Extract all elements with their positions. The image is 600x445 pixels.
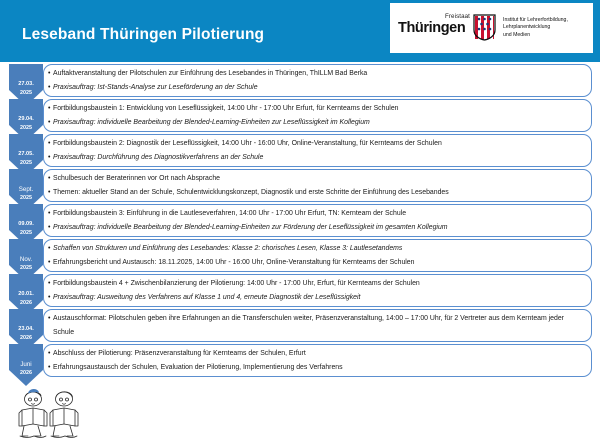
event-bullet-text: Schulbesuch der Beraterinnen vor Ort nac… — [53, 172, 585, 186]
event-bullet: •Schulbesuch der Beraterinnen vor Ort na… — [48, 172, 585, 186]
event-bullet-text: Praxisauftrag: Ist-Stands-Analyse zur Le… — [53, 81, 585, 95]
timeline-row: Nov.2025•Schaffen von Strukturen und Ein… — [0, 239, 600, 272]
thuringia-wordmark: Freistaat Thüringen — [398, 11, 470, 45]
timeline-row: 29.04.2025•Fortbildungsbaustein 1: Entwi… — [0, 99, 600, 132]
event-bullet: •Praxisauftrag: individuelle Bearbeitung… — [48, 116, 585, 130]
marker-year-label: 2026 — [9, 370, 43, 377]
timeline-event-box: •Fortbildungsbaustein 2: Diagnostik der … — [43, 134, 592, 167]
event-bullet: •Praxisauftrag: individuelle Bearbeitung… — [48, 221, 585, 235]
event-bullet: •Auftaktveranstaltung der Pilotschulen z… — [48, 67, 585, 81]
marker-day-label: Sept. — [9, 186, 43, 193]
event-bullet: •Fortbildungsbaustein 3: Einführung in d… — [48, 207, 585, 221]
logo-thueringen-label: Thüringen — [398, 20, 465, 36]
event-bullet-text: Erfahrungsbericht und Austausch: 18.11.2… — [53, 256, 585, 270]
marker-year-label: 2025 — [9, 230, 43, 237]
marker-year-label: 2025 — [9, 125, 43, 132]
timeline-event-box: •Schaffen von Strukturen und Einführung … — [43, 239, 592, 272]
marker-year-label: 2025 — [9, 265, 43, 272]
thuringia-institute-logo: Freistaat Thüringen Institut — [390, 3, 593, 53]
timeline-row: 23.04.2026•Austauschformat: Pilotschulen… — [0, 309, 600, 342]
marker-day-label: 29.04. — [9, 116, 43, 123]
timeline-date-marker: Juni2026 — [9, 344, 43, 386]
event-bullet: •Themen: aktueller Stand an der Schule, … — [48, 186, 585, 200]
page-header: Leseband Thüringen Pilotierung Freistaat… — [0, 0, 600, 62]
event-bullet-text: Themen: aktueller Stand an der Schule, S… — [53, 186, 585, 200]
logo-freistaat-label: Freistaat — [445, 13, 470, 20]
timeline-row: 20.01.2026•Fortbildungsbaustein 4 + Zwis… — [0, 274, 600, 307]
timeline-row: Juni2026•Abschluss der Pilotierung: Präs… — [0, 344, 600, 377]
event-bullet: •Erfahrungsbericht und Austausch: 18.11.… — [48, 256, 585, 270]
event-bullet-text: Erfahrungsaustausch der Schulen, Evaluat… — [53, 361, 585, 375]
marker-day-label: Juni — [9, 361, 43, 368]
event-bullet: •Fortbildungsbaustein 1: Entwicklung von… — [48, 102, 585, 116]
marker-year-label: 2026 — [9, 335, 43, 342]
event-bullet-text: Praxisauftrag: individuelle Bearbeitung … — [53, 116, 585, 130]
event-bullet-text: Schaffen von Strukturen und Einführung d… — [53, 242, 585, 256]
event-bullet-text: Austauschformat: Pilotschulen geben ihre… — [53, 312, 585, 339]
timeline-event-box: •Fortbildungsbaustein 3: Einführung in d… — [43, 204, 592, 237]
marker-year-label: 2025 — [9, 90, 43, 97]
event-bullet: •Fortbildungsbaustein 2: Diagnostik der … — [48, 137, 585, 151]
event-bullet-text: Praxisauftrag: individuelle Bearbeitung … — [53, 221, 585, 235]
institute-line-3: und Medien — [503, 32, 568, 39]
marker-day-label: Nov. — [9, 256, 43, 263]
marker-day-label: 09.09. — [9, 221, 43, 228]
marker-day-label: 27.03. — [9, 81, 43, 88]
timeline-event-box: •Fortbildungsbaustein 1: Entwicklung von… — [43, 99, 592, 132]
timeline: 27.03.2025•Auftaktveranstaltung der Pilo… — [0, 62, 600, 377]
event-bullet-text: Praxisauftrag: Durchführung des Diagnost… — [53, 151, 585, 165]
event-bullet: •Praxisauftrag: Ausweitung des Verfahren… — [48, 291, 585, 305]
timeline-event-box: •Schulbesuch der Beraterinnen vor Ort na… — [43, 169, 592, 202]
two-children-reading-books-illustration — [12, 386, 90, 442]
institute-line-2: Lehrplanentwicklung — [503, 24, 568, 31]
timeline-row: 27.03.2025•Auftaktveranstaltung der Pilo… — [0, 64, 600, 97]
timeline-event-box: •Auftaktveranstaltung der Pilotschulen z… — [43, 64, 592, 97]
event-bullet: •Abschluss der Pilotierung: Präsenzveran… — [48, 347, 585, 361]
timeline-row: 27.05.2025•Fortbildungsbaustein 2: Diagn… — [0, 134, 600, 167]
event-bullet-text: Abschluss der Pilotierung: Präsenzverans… — [53, 347, 585, 361]
page-title: Leseband Thüringen Pilotierung — [22, 26, 264, 44]
marker-day-label: 20.01. — [9, 291, 43, 298]
marker-year-label: 2025 — [9, 195, 43, 202]
timeline-event-box: •Austauschformat: Pilotschulen geben ihr… — [43, 309, 592, 342]
marker-day-label: 27.05. — [9, 151, 43, 158]
thuringia-coat-of-arms-icon — [473, 14, 496, 41]
event-bullet-text: Fortbildungsbaustein 2: Diagnostik der L… — [53, 137, 585, 151]
event-bullet: •Schaffen von Strukturen und Einführung … — [48, 242, 585, 256]
institute-name-label: Institut für Lehrerfortbildung, Lehrplan… — [503, 17, 568, 39]
event-bullet: •Praxisauftrag: Durchführung des Diagnos… — [48, 151, 585, 165]
marker-year-label: 2025 — [9, 160, 43, 167]
institute-line-1: Institut für Lehrerfortbildung, — [503, 17, 568, 24]
event-bullet: •Praxisauftrag: Ist-Stands-Analyse zur L… — [48, 81, 585, 95]
event-bullet-text: Fortbildungsbaustein 4 + Zwischenbilanzi… — [53, 277, 585, 291]
event-bullet: •Austauschformat: Pilotschulen geben ihr… — [48, 312, 585, 339]
timeline-row: Sept.2025•Schulbesuch der Beraterinnen v… — [0, 169, 600, 202]
timeline-event-box: •Abschluss der Pilotierung: Präsenzveran… — [43, 344, 592, 377]
event-bullet-text: Praxisauftrag: Ausweitung des Verfahrens… — [53, 291, 585, 305]
event-bullet-text: Auftaktveranstaltung der Pilotschulen zu… — [53, 67, 585, 81]
timeline-event-box: •Fortbildungsbaustein 4 + Zwischenbilanz… — [43, 274, 592, 307]
timeline-row: 09.09.2025•Fortbildungsbaustein 3: Einfü… — [0, 204, 600, 237]
event-bullet: •Fortbildungsbaustein 4 + Zwischenbilanz… — [48, 277, 585, 291]
event-bullet: •Erfahrungsaustausch der Schulen, Evalua… — [48, 361, 585, 375]
marker-day-label: 23.04. — [9, 326, 43, 333]
event-bullet-text: Fortbildungsbaustein 3: Einführung in di… — [53, 207, 585, 221]
event-bullet-text: Fortbildungsbaustein 1: Entwicklung von … — [53, 102, 585, 116]
marker-year-label: 2026 — [9, 300, 43, 307]
